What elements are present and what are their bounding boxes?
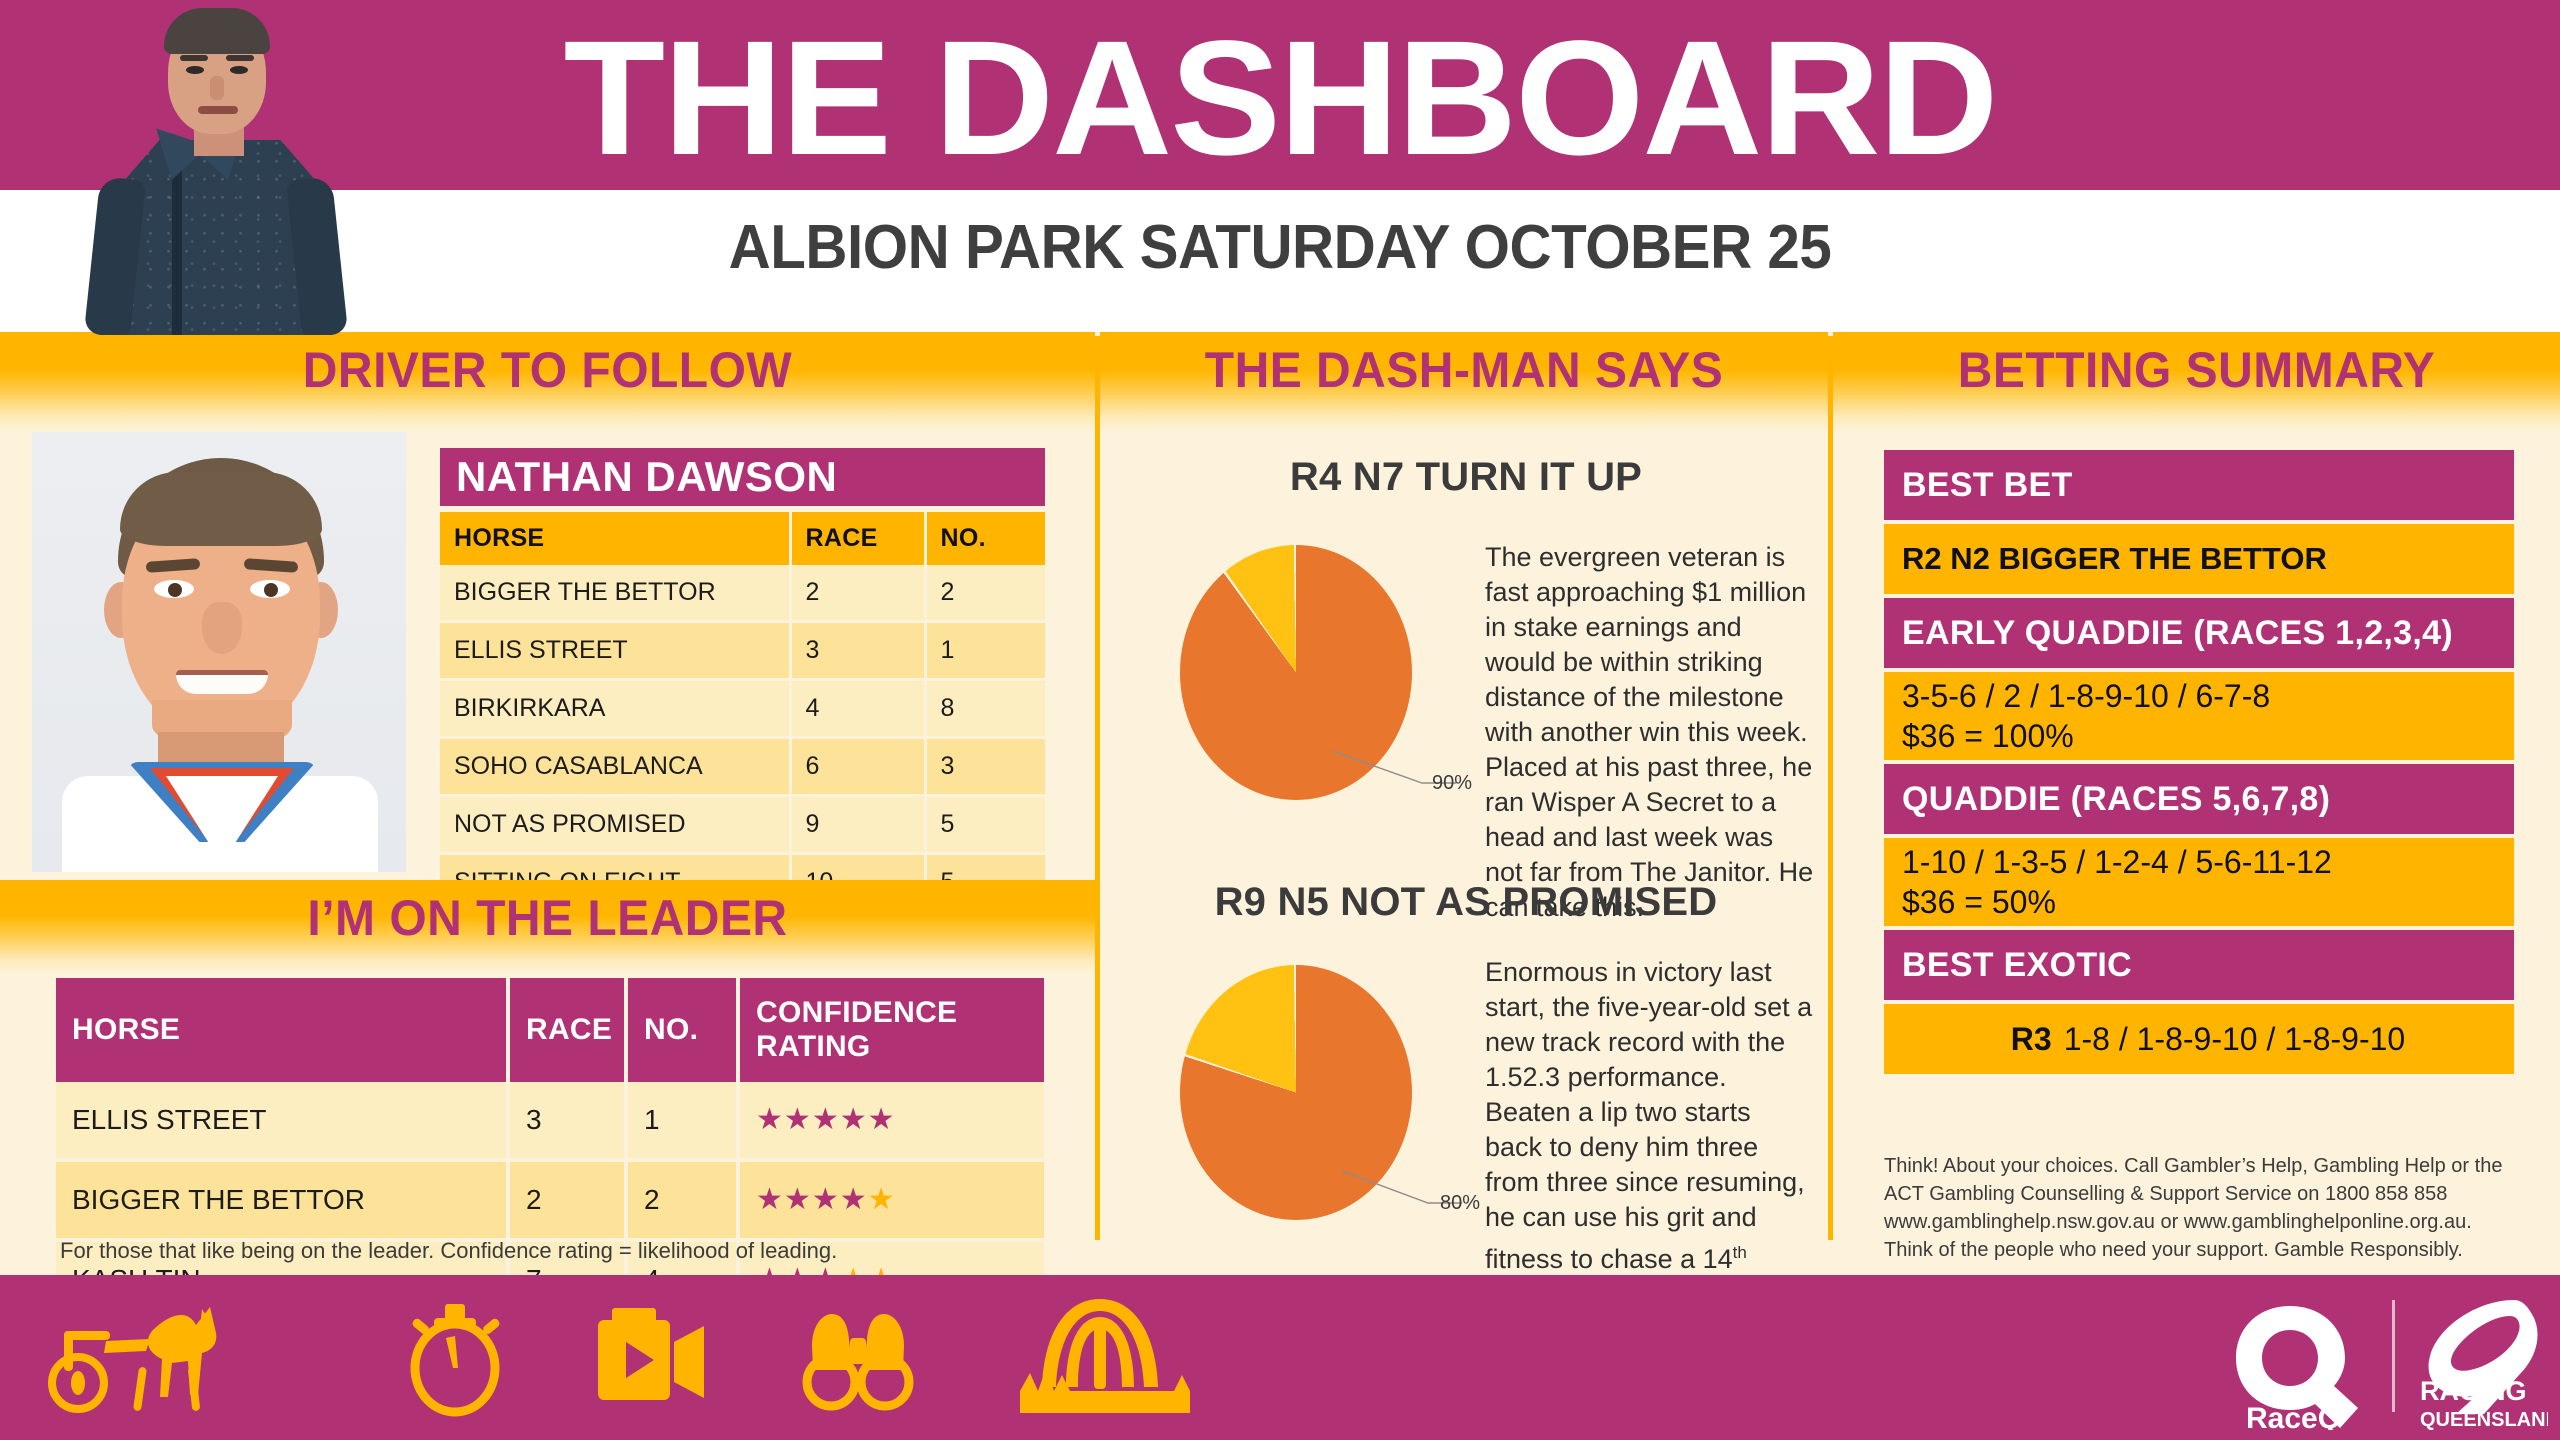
- table-row: BIGGER THE BETTOR22: [440, 565, 1045, 622]
- early-quaddie-header: EARLY QUADDIE (RACES 1,2,3,4): [1884, 598, 2514, 668]
- grandstand-icon: [1010, 1295, 1190, 1417]
- footer-bar: [0, 1275, 2560, 1440]
- best-exotic-race-tag: R3: [2011, 1019, 2052, 1059]
- quaddie-header: QUADDIE (RACES 5,6,7,8): [1884, 764, 2514, 834]
- dashman-body-1: The evergreen veteran is fast approachin…: [1485, 540, 1815, 925]
- section-header-dashman: THE DASH-MAN SAYS: [1100, 332, 1828, 432]
- col-confidence: CONFIDENCE RATING: [738, 978, 1044, 1082]
- table-row: SOHO CASABLANCA63: [440, 738, 1045, 796]
- driver-cell-horse: NOT AS PROMISED: [440, 796, 790, 854]
- quaddie-value: 1-10 / 1-3-5 / 1-2-4 / 5-6-11-12 $36 = 5…: [1884, 838, 2514, 926]
- dashman-item-1: R4 N7 TURN IT UP: [1110, 455, 1822, 500]
- driver-cell-no: 1: [925, 622, 1045, 680]
- col-race: RACE: [790, 512, 925, 565]
- column-divider-left: [1095, 336, 1100, 1240]
- col-horse: HORSE: [56, 978, 508, 1082]
- best-exotic-header: BEST EXOTIC: [1884, 930, 2514, 1000]
- gambling-disclaimer: Think! About your choices. Call Gambler’…: [1884, 1152, 2524, 1264]
- pie-percent-label-2: 80%: [1440, 1192, 1480, 1215]
- leader-cell-race: 3: [508, 1082, 626, 1160]
- col-no: NO.: [925, 512, 1045, 565]
- section-title-leader: I’M ON THE LEADER: [22, 890, 1073, 946]
- leader-cell-rating: ★★★★★: [738, 1160, 1044, 1240]
- driver-cell-race: 2: [790, 565, 925, 622]
- quaddie-line1: 1-10 / 1-3-5 / 1-2-4 / 5-6-11-12: [1902, 842, 2514, 882]
- dashman-body-2-sup: th: [1733, 1243, 1747, 1262]
- driver-horses-table: HORSE RACE NO. BIGGER THE BETTOR22ELLIS …: [440, 512, 1045, 913]
- early-quaddie-value: 3-5-6 / 2 / 1-8-9-10 / 6-7-8 $36 = 100%: [1884, 672, 2514, 760]
- racing-text: RACING: [2420, 1376, 2527, 1406]
- confidence-stars: ★★★★★: [756, 1103, 896, 1136]
- early-quaddie-line1: 3-5-6 / 2 / 1-8-9-10 / 6-7-8: [1902, 676, 2514, 716]
- stopwatch-icon: [390, 1302, 520, 1417]
- page-subtitle: ALBION PARK SATURDAY OCTOBER 25: [77, 212, 2483, 284]
- section-header-leader: I’M ON THE LEADER: [0, 880, 1095, 974]
- leader-table: HORSE RACE NO. CONFIDENCE RATING ELLIS S…: [56, 978, 1044, 1322]
- binoculars-icon: [798, 1308, 918, 1413]
- table-row: ELLIS STREET31★★★★★: [56, 1082, 1044, 1160]
- queensland-text: QUEENSLAND: [2420, 1409, 2548, 1430]
- raceq-logo: RaceQ: [2230, 1300, 2378, 1430]
- table-header-row: HORSE RACE NO.: [440, 512, 1045, 565]
- table-row: BIRKIRKARA48: [440, 680, 1045, 738]
- table-row: ELLIS STREET31: [440, 622, 1045, 680]
- driver-cell-race: 4: [790, 680, 925, 738]
- driver-cell-horse: BIGGER THE BETTOR: [440, 565, 790, 622]
- column-divider-right: [1828, 336, 1833, 1240]
- driver-cell-no: 8: [925, 680, 1045, 738]
- leader-cell-horse: BIGGER THE BETTOR: [56, 1160, 508, 1240]
- page-title: THE DASHBOARD: [0, 8, 2560, 188]
- driver-cell-no: 2: [925, 565, 1045, 622]
- dashman-item-2: R9 N5 NOT AS PROMISED: [1110, 880, 1822, 925]
- dashman-heading-1: R4 N7 TURN IT UP: [1110, 455, 1822, 500]
- best-bet-header: BEST BET: [1884, 450, 2514, 520]
- best-exotic-value: R3 1-8 / 1-8-9-10 / 1-8-9-10: [1884, 1004, 2514, 1074]
- section-header-driver: DRIVER TO FOLLOW: [0, 332, 1095, 432]
- col-horse: HORSE: [440, 512, 790, 565]
- leader-footnote: For those that like being on the leader.…: [60, 1238, 1040, 1264]
- raceq-logo-text: RaceQ: [2246, 1402, 2341, 1430]
- harness-horse-icon: [40, 1305, 260, 1415]
- driver-cell-no: 3: [925, 738, 1045, 796]
- leader-cell-race: 2: [508, 1160, 626, 1240]
- best-bet-value: R2 N2 BIGGER THE BETTOR: [1884, 524, 2514, 594]
- quaddie-line2: $36 = 50%: [1902, 882, 2514, 922]
- dashman-body-2-pre: Enormous in victory last start, the five…: [1485, 957, 1812, 1274]
- driver-cell-no: 5: [925, 796, 1045, 854]
- leader-cell-no: 1: [626, 1082, 738, 1160]
- driver-name-header: NATHAN DAWSON: [440, 448, 1045, 506]
- col-race: RACE: [508, 978, 626, 1082]
- logo-divider: [2392, 1300, 2395, 1412]
- driver-cell-race: 6: [790, 738, 925, 796]
- section-title-driver: DRIVER TO FOLLOW: [22, 342, 1073, 398]
- driver-cell-race: 9: [790, 796, 925, 854]
- table-row: BIGGER THE BETTOR22★★★★★: [56, 1160, 1044, 1240]
- driver-cell-race: 3: [790, 622, 925, 680]
- leader-cell-horse: ELLIS STREET: [56, 1082, 508, 1160]
- driver-cell-horse: SOHO CASABLANCA: [440, 738, 790, 796]
- section-header-betting: BETTING SUMMARY: [1833, 332, 2560, 432]
- confidence-stars: ★★★★★: [756, 1183, 896, 1216]
- pie-percent-label-1: 90%: [1432, 772, 1472, 795]
- racing-queensland-logo: RACING QUEENSLAND: [2418, 1296, 2548, 1430]
- leader-cell-no: 2: [626, 1160, 738, 1240]
- dashman-body-2: Enormous in victory last start, the five…: [1485, 955, 1815, 1312]
- driver-cell-horse: BIRKIRKARA: [440, 680, 790, 738]
- best-exotic-combos: 1-8 / 1-8-9-10 / 1-8-9-10: [2064, 1019, 2406, 1059]
- driver-photo: [32, 432, 406, 872]
- section-title-betting: BETTING SUMMARY: [1848, 342, 2546, 398]
- dashman-heading-2: R9 N5 NOT AS PROMISED: [1110, 880, 1822, 925]
- table-header-row: HORSE RACE NO. CONFIDENCE RATING: [56, 978, 1044, 1082]
- section-title-dashman: THE DASH-MAN SAYS: [1115, 342, 1814, 398]
- video-camera-icon: [590, 1308, 720, 1413]
- leader-cell-rating: ★★★★★: [738, 1082, 1044, 1160]
- driver-cell-horse: ELLIS STREET: [440, 622, 790, 680]
- presenter-photo: [68, 0, 358, 335]
- col-no: NO.: [626, 978, 738, 1082]
- early-quaddie-line2: $36 = 100%: [1902, 716, 2514, 756]
- table-row: NOT AS PROMISED95: [440, 796, 1045, 854]
- dashboard-page: THE DASHBOARD ALBION PARK SATURDAY OCTOB…: [0, 0, 2560, 1440]
